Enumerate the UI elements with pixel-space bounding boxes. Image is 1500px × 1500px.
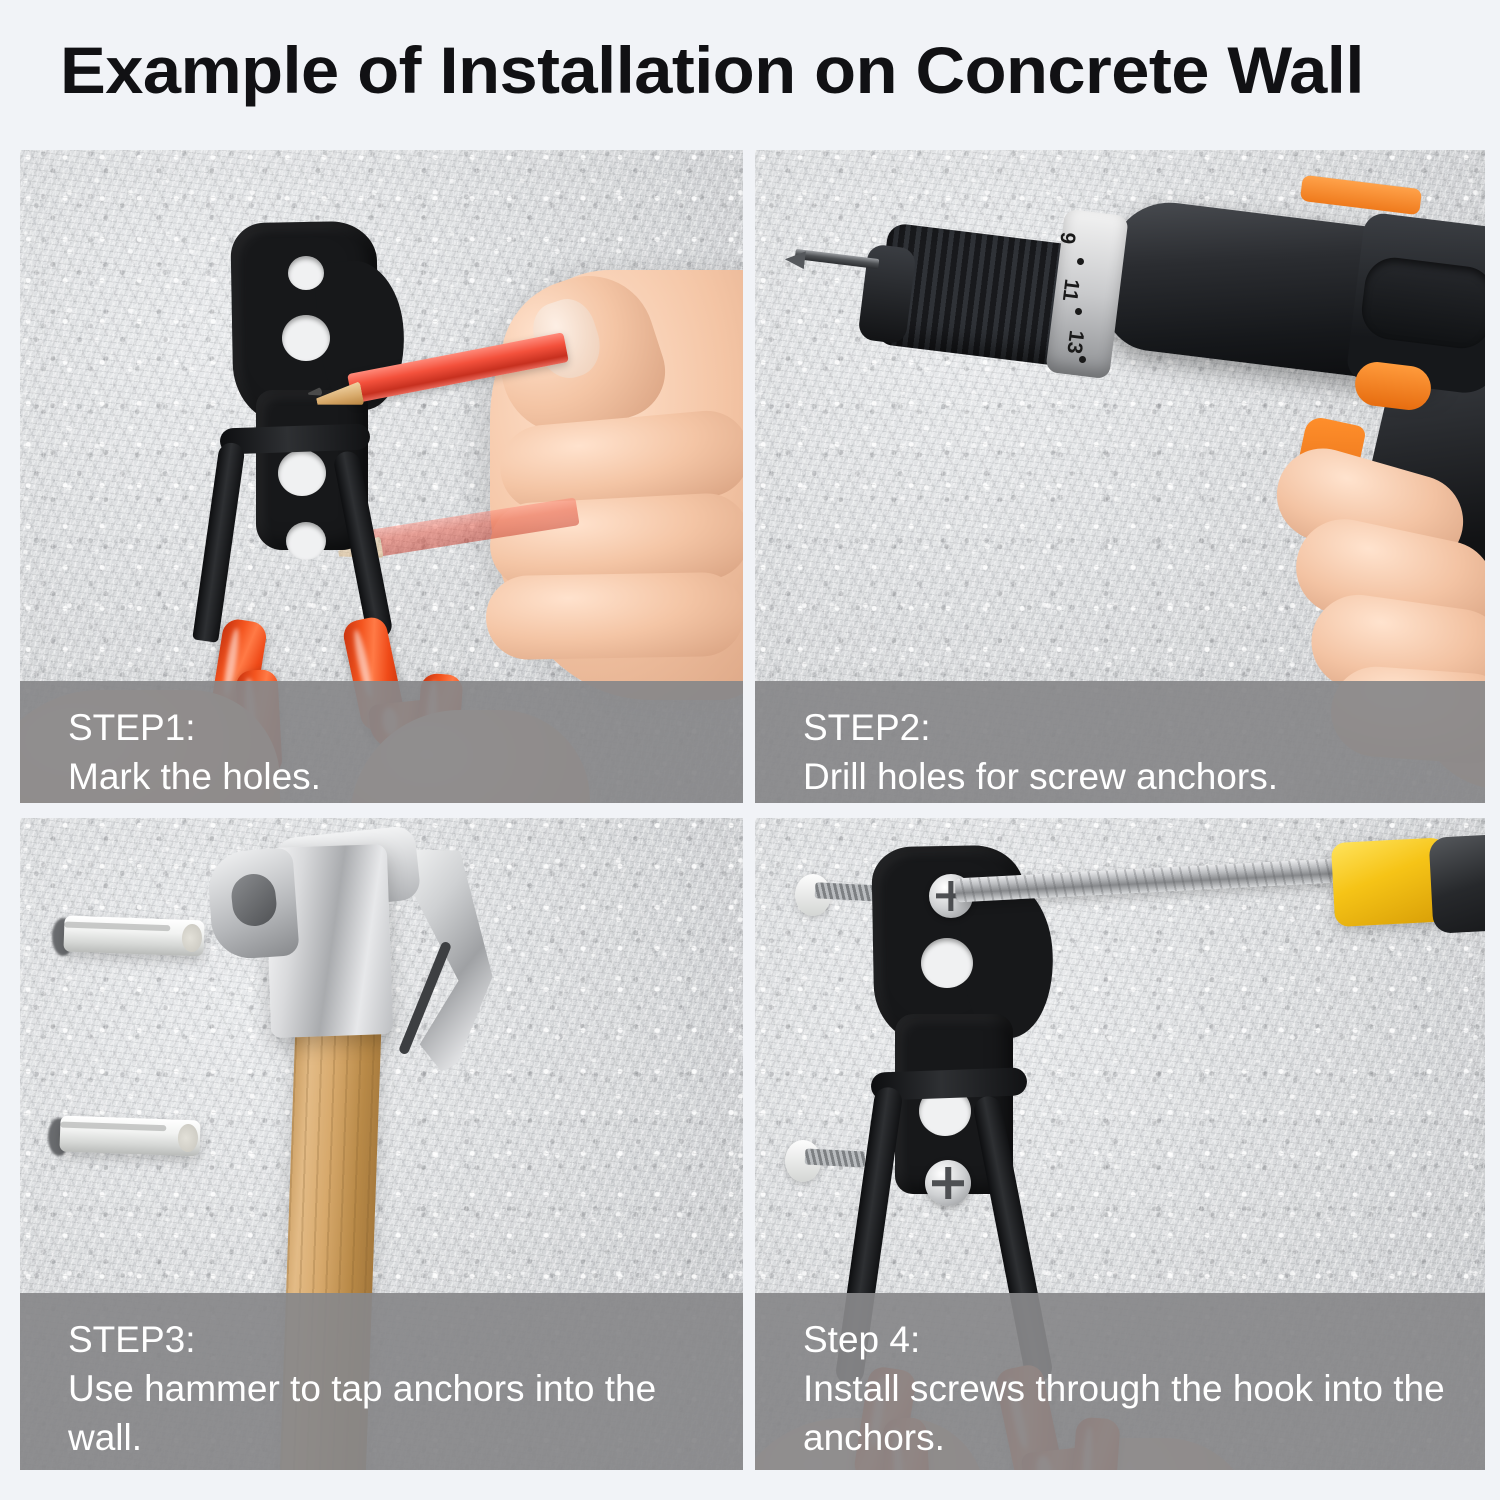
step-3-caption: STEP3: Use hammer to tap anchors into th… (20, 1293, 743, 1470)
step-1-text: Mark the holes. (68, 752, 743, 801)
clutch-dot (1079, 356, 1086, 363)
screw-head (925, 1160, 971, 1206)
step-1-label: STEP1: (68, 703, 743, 752)
step-2-label: STEP2: (803, 703, 1485, 752)
installation-infographic: Example of Installation on Concrete Wall (0, 0, 1500, 1500)
finger (485, 572, 743, 660)
step-panel-4: Step 4: Install screws through the hook … (755, 818, 1485, 1470)
step-4-caption: Step 4: Install screws through the hook … (755, 1293, 1485, 1470)
step-panel-3: STEP3: Use hammer to tap anchors into th… (20, 818, 743, 1470)
wall-anchor (63, 916, 204, 957)
screw-hole (278, 450, 326, 496)
clutch-dot (1077, 258, 1084, 265)
steps-grid: STEP1: Mark the holes. 13 11 9 (20, 150, 1485, 1470)
clutch-dot (1075, 308, 1082, 315)
screw-shaft (805, 1148, 866, 1167)
screw-hole (288, 256, 324, 290)
step-panel-2: 13 11 9 STEP2: Drill holes for screw anc… (755, 150, 1485, 803)
clutch-mark-11: 11 (1057, 278, 1084, 303)
screw-hole (282, 315, 330, 361)
screw-hole (921, 938, 973, 988)
step-4-label: Step 4: (803, 1315, 1485, 1364)
clutch-mark-13: 13 (1061, 329, 1088, 355)
step-3-text: Use hammer to tap anchors into the wall. (68, 1364, 743, 1462)
page-title: Example of Installation on Concrete Wall (60, 30, 1364, 110)
step-2-text: Drill holes for screw anchors. (803, 752, 1485, 801)
step-panel-1: STEP1: Mark the holes. (20, 150, 743, 803)
screw-hole (286, 522, 326, 560)
step-3-label: STEP3: (68, 1315, 743, 1364)
wall-anchor (59, 1116, 200, 1157)
step-2-caption: STEP2: Drill holes for screw anchors. (755, 681, 1485, 803)
screwdriver-handle (1429, 830, 1485, 934)
step-1-caption: STEP1: Mark the holes. (20, 681, 743, 803)
step-4-text: Install screws through the hook into the… (803, 1364, 1485, 1462)
